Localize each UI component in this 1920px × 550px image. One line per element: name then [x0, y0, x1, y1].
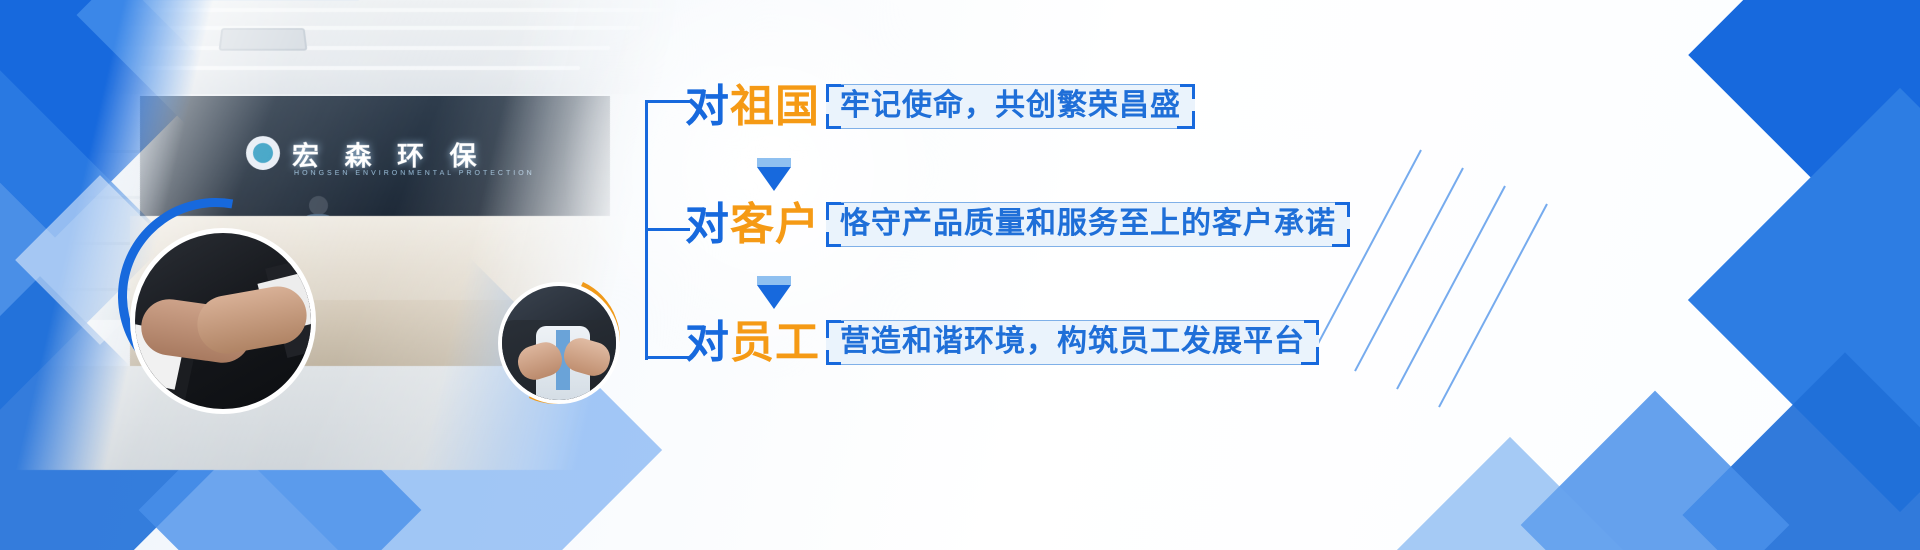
values-content: 对祖国 牢记使命，共创繁荣昌盛 对客户 恪守产品质量和服务至上的客户承诺 对员工… [645, 62, 1375, 392]
box-rule-bottom [841, 128, 1180, 129]
box-corner-tr [1304, 320, 1319, 335]
statement-text: 营造和谐环境，构筑员工发展平台 [840, 325, 1305, 358]
bracket-tick [648, 228, 690, 231]
box-corner-bl [826, 232, 841, 247]
value-statement-country: 牢记使命，共创繁荣昌盛 [826, 84, 1195, 129]
box-corner-tr [1180, 84, 1195, 99]
decor-diagonal-lines [1410, 150, 1670, 450]
box-corner-tr [1335, 202, 1350, 217]
value-row-employee: 对员工 营造和谐环境，构筑员工发展平台 [685, 320, 1319, 365]
corporate-values-banner: 宏 森 环 保 HONGSEN ENVIRONMENTAL PROTECTION [0, 0, 1920, 550]
lead-prefix: 对 [685, 318, 730, 367]
arrow-triangle [757, 285, 791, 309]
lead-highlight: 客户 [730, 200, 820, 249]
value-statement-customer: 恪守产品质量和服务至上的客户承诺 [826, 202, 1350, 247]
arrow-triangle [757, 167, 791, 191]
bracket-tick [648, 100, 690, 103]
box-rule-bottom [841, 364, 1304, 365]
arrow-cap [757, 276, 791, 285]
lead-highlight: 祖国 [730, 82, 820, 131]
statement-text: 恪守产品质量和服务至上的客户承诺 [840, 207, 1336, 240]
down-arrow-icon-1 [757, 158, 791, 191]
value-lead-country: 对祖国 [685, 85, 820, 129]
value-row-customer: 对客户 恪守产品质量和服务至上的客户承诺 [685, 202, 1350, 247]
diagonal-line [1438, 204, 1548, 408]
box-corner-bl [826, 114, 841, 129]
box-rule-top [841, 84, 1180, 85]
lead-prefix: 对 [685, 82, 730, 131]
lead-highlight: 员工 [730, 318, 820, 367]
value-lead-employee: 对员工 [685, 321, 820, 365]
down-arrow-icon-2 [757, 276, 791, 309]
handshake-photo [130, 228, 316, 414]
box-corner-bl [826, 350, 841, 365]
value-statement-employee: 营造和谐环境，构筑员工发展平台 [826, 320, 1319, 365]
box-rule-top [841, 320, 1304, 321]
box-rule-bottom [841, 246, 1335, 247]
box-rule-top [841, 202, 1335, 203]
statement-text: 牢记使命，共创繁荣昌盛 [840, 89, 1181, 122]
value-lead-customer: 对客户 [685, 203, 820, 247]
bracket-tick [648, 356, 690, 359]
value-row-country: 对祖国 牢记使命，共创繁荣昌盛 [685, 84, 1195, 129]
diagonal-line [1396, 186, 1506, 390]
arrow-cap [757, 158, 791, 167]
lead-prefix: 对 [685, 200, 730, 249]
presenter-photo [498, 282, 620, 404]
